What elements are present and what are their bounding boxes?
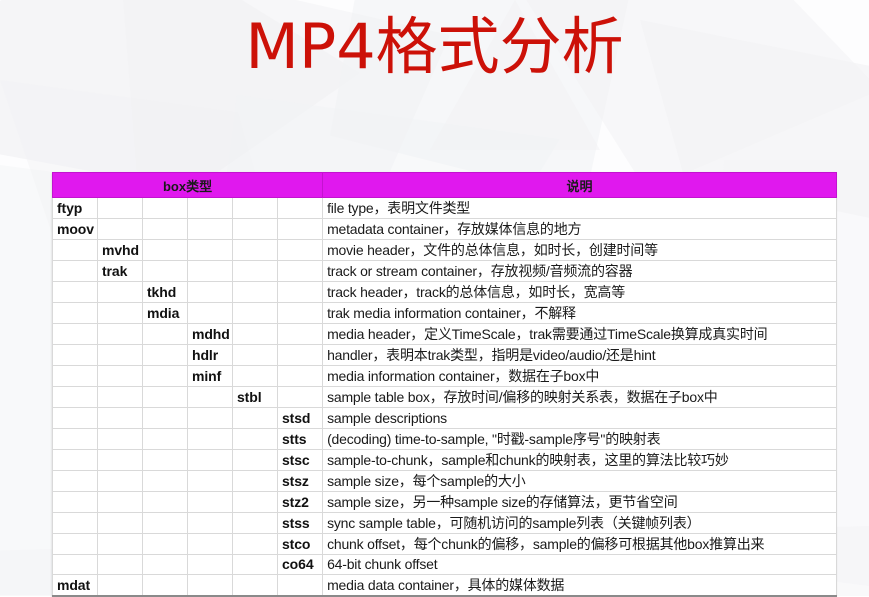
table-row: ftypfile type，表明文件类型: [53, 198, 837, 219]
indent-spacer-cell: [188, 282, 233, 303]
indent-spacer-cell: [233, 240, 278, 261]
indent-spacer-cell: [98, 303, 143, 324]
indent-spacer-cell: [143, 324, 188, 345]
column-header-box-type: box类型: [53, 173, 323, 198]
indent-spacer-cell: [143, 533, 188, 554]
indent-spacer-cell: [233, 282, 278, 303]
indent-spacer-cell: [98, 533, 143, 554]
box-name-cell: mdhd: [188, 324, 233, 345]
table-row: stsdsample descriptions: [53, 408, 837, 429]
box-description-cell: sample-to-chunk，sample和chunk的映射表，这里的算法比较…: [323, 449, 837, 470]
indent-spacer-cell: [278, 240, 323, 261]
indent-spacer-cell: [143, 387, 188, 408]
table-row: tkhdtrack header，track的总体信息，如时长，宽高等: [53, 282, 837, 303]
box-name-cell: minf: [188, 366, 233, 387]
indent-spacer-cell: [188, 512, 233, 533]
indent-spacer-cell: [188, 261, 233, 282]
indent-spacer-cell: [98, 554, 143, 575]
indent-spacer-cell: [53, 408, 98, 429]
indent-spacer-cell: [188, 219, 233, 240]
indent-spacer-cell: [98, 366, 143, 387]
indent-spacer-cell: [143, 491, 188, 512]
table-row: mvhdmovie header，文件的总体信息，如时长，创建时间等: [53, 240, 837, 261]
indent-spacer-cell: [233, 324, 278, 345]
indent-spacer-cell: [53, 366, 98, 387]
box-name-cell: stbl: [233, 387, 278, 408]
table-row: stscsample-to-chunk，sample和chunk的映射表，这里的…: [53, 449, 837, 470]
box-name-cell: stco: [278, 533, 323, 554]
indent-spacer-cell: [233, 345, 278, 366]
indent-spacer-cell: [98, 428, 143, 449]
indent-spacer-cell: [188, 240, 233, 261]
indent-spacer-cell: [143, 470, 188, 491]
indent-spacer-cell: [98, 470, 143, 491]
indent-spacer-cell: [143, 554, 188, 575]
box-name-cell: co64: [278, 554, 323, 575]
table-row: stsssync sample table，可随机访问的sample列表（关键帧…: [53, 512, 837, 533]
indent-spacer-cell: [233, 512, 278, 533]
indent-spacer-cell: [233, 575, 278, 597]
box-description-cell: media header，定义TimeScale，trak需要通过TimeSca…: [323, 324, 837, 345]
indent-spacer-cell: [233, 198, 278, 219]
indent-spacer-cell: [53, 240, 98, 261]
table-row: traktrack or stream container，存放视频/音频流的容…: [53, 261, 837, 282]
indent-spacer-cell: [188, 470, 233, 491]
indent-spacer-cell: [188, 387, 233, 408]
box-description-cell: sample size，每个sample的大小: [323, 470, 837, 491]
indent-spacer-cell: [53, 303, 98, 324]
indent-spacer-cell: [278, 366, 323, 387]
indent-spacer-cell: [188, 408, 233, 429]
box-description-cell: (decoding) time-to-sample, "时戳-sample序号"…: [323, 428, 837, 449]
indent-spacer-cell: [188, 554, 233, 575]
table-row: mdiatrak media information container，不解释: [53, 303, 837, 324]
mp4-box-table: box类型 说明 ftypfile type，表明文件类型moovmetadat…: [52, 172, 837, 597]
box-description-cell: media information container，数据在子box中: [323, 366, 837, 387]
indent-spacer-cell: [188, 491, 233, 512]
indent-spacer-cell: [143, 512, 188, 533]
indent-spacer-cell: [188, 303, 233, 324]
table-row: co6464-bit chunk offset: [53, 554, 837, 575]
indent-spacer-cell: [53, 470, 98, 491]
indent-spacer-cell: [53, 533, 98, 554]
indent-spacer-cell: [188, 449, 233, 470]
box-name-cell: stss: [278, 512, 323, 533]
box-name-cell: stts: [278, 428, 323, 449]
indent-spacer-cell: [278, 261, 323, 282]
indent-spacer-cell: [233, 554, 278, 575]
box-name-cell: mvhd: [98, 240, 143, 261]
box-description-cell: sample descriptions: [323, 408, 837, 429]
slide-title: MP4格式分析: [0, 6, 869, 88]
box-description-cell: movie header，文件的总体信息，如时长，创建时间等: [323, 240, 837, 261]
indent-spacer-cell: [233, 261, 278, 282]
indent-spacer-cell: [143, 449, 188, 470]
table-header-row: box类型 说明: [53, 173, 837, 198]
indent-spacer-cell: [53, 282, 98, 303]
indent-spacer-cell: [98, 408, 143, 429]
box-description-cell: media data container，具体的媒体数据: [323, 575, 837, 597]
indent-spacer-cell: [233, 470, 278, 491]
box-name-cell: stsd: [278, 408, 323, 429]
indent-spacer-cell: [278, 324, 323, 345]
table-head: box类型 说明: [53, 173, 837, 198]
table-row: stblsample table box，存放时间/偏移的映射关系表，数据在子b…: [53, 387, 837, 408]
indent-spacer-cell: [143, 219, 188, 240]
indent-spacer-cell: [233, 491, 278, 512]
table-row: minfmedia information container，数据在子box中: [53, 366, 837, 387]
indent-spacer-cell: [278, 219, 323, 240]
table-row: stcochunk offset，每个chunk的偏移，sample的偏移可根据…: [53, 533, 837, 554]
indent-spacer-cell: [143, 345, 188, 366]
indent-spacer-cell: [278, 575, 323, 597]
box-description-cell: file type，表明文件类型: [323, 198, 837, 219]
indent-spacer-cell: [188, 533, 233, 554]
table-row: moovmetadata container，存放媒体信息的地方: [53, 219, 837, 240]
indent-spacer-cell: [98, 198, 143, 219]
column-header-description: 说明: [323, 173, 837, 198]
box-description-cell: sample table box，存放时间/偏移的映射关系表，数据在子box中: [323, 387, 837, 408]
indent-spacer-cell: [233, 303, 278, 324]
indent-spacer-cell: [278, 303, 323, 324]
box-name-cell: ftyp: [53, 198, 98, 219]
indent-spacer-cell: [53, 491, 98, 512]
indent-spacer-cell: [188, 198, 233, 219]
indent-spacer-cell: [233, 408, 278, 429]
table-row: mdhdmedia header，定义TimeScale，trak需要通过Tim…: [53, 324, 837, 345]
box-description-cell: track header，track的总体信息，如时长，宽高等: [323, 282, 837, 303]
indent-spacer-cell: [98, 449, 143, 470]
box-name-cell: stsz: [278, 470, 323, 491]
indent-spacer-cell: [143, 198, 188, 219]
indent-spacer-cell: [53, 512, 98, 533]
indent-spacer-cell: [278, 198, 323, 219]
indent-spacer-cell: [143, 575, 188, 597]
indent-spacer-cell: [53, 345, 98, 366]
indent-spacer-cell: [143, 240, 188, 261]
box-description-cell: sync sample table，可随机访问的sample列表（关键帧列表）: [323, 512, 837, 533]
box-description-cell: chunk offset，每个chunk的偏移，sample的偏移可根据其他bo…: [323, 533, 837, 554]
indent-spacer-cell: [98, 512, 143, 533]
indent-spacer-cell: [98, 491, 143, 512]
indent-spacer-cell: [53, 554, 98, 575]
indent-spacer-cell: [53, 324, 98, 345]
indent-spacer-cell: [98, 575, 143, 597]
indent-spacer-cell: [98, 324, 143, 345]
indent-spacer-cell: [143, 261, 188, 282]
indent-spacer-cell: [233, 366, 278, 387]
indent-spacer-cell: [233, 428, 278, 449]
table-row: stszsample size，每个sample的大小: [53, 470, 837, 491]
indent-spacer-cell: [143, 428, 188, 449]
indent-spacer-cell: [233, 219, 278, 240]
indent-spacer-cell: [98, 282, 143, 303]
indent-spacer-cell: [233, 533, 278, 554]
box-name-cell: mdat: [53, 575, 98, 597]
box-name-cell: stsc: [278, 449, 323, 470]
table-row: hdlrhandler，表明本trak类型，指明是video/audio/还是h…: [53, 345, 837, 366]
indent-spacer-cell: [143, 366, 188, 387]
box-description-cell: trak media information container，不解释: [323, 303, 837, 324]
indent-spacer-cell: [278, 387, 323, 408]
indent-spacer-cell: [98, 219, 143, 240]
indent-spacer-cell: [278, 345, 323, 366]
box-name-cell: mdia: [143, 303, 188, 324]
box-name-cell: trak: [98, 261, 143, 282]
box-name-cell: moov: [53, 219, 98, 240]
table-row: mdatmedia data container，具体的媒体数据: [53, 575, 837, 597]
box-description-cell: sample size，另一种sample size的存储算法，更节省空间: [323, 491, 837, 512]
box-name-cell: stz2: [278, 491, 323, 512]
indent-spacer-cell: [278, 282, 323, 303]
indent-spacer-cell: [188, 428, 233, 449]
table-row: stts(decoding) time-to-sample, "时戳-sampl…: [53, 428, 837, 449]
indent-spacer-cell: [98, 345, 143, 366]
box-description-cell: 64-bit chunk offset: [323, 554, 837, 575]
mp4-box-table-container: box类型 说明 ftypfile type，表明文件类型moovmetadat…: [52, 172, 836, 597]
box-description-cell: metadata container，存放媒体信息的地方: [323, 219, 837, 240]
table-row: stz2sample size，另一种sample size的存储算法，更节省空…: [53, 491, 837, 512]
indent-spacer-cell: [53, 449, 98, 470]
indent-spacer-cell: [233, 449, 278, 470]
table-body: ftypfile type，表明文件类型moovmetadata contain…: [53, 198, 837, 597]
box-description-cell: handler，表明本trak类型，指明是video/audio/还是hint: [323, 345, 837, 366]
box-name-cell: hdlr: [188, 345, 233, 366]
indent-spacer-cell: [53, 428, 98, 449]
indent-spacer-cell: [98, 387, 143, 408]
indent-spacer-cell: [143, 408, 188, 429]
box-name-cell: tkhd: [143, 282, 188, 303]
indent-spacer-cell: [53, 387, 98, 408]
box-description-cell: track or stream container，存放视频/音频流的容器: [323, 261, 837, 282]
indent-spacer-cell: [53, 261, 98, 282]
indent-spacer-cell: [188, 575, 233, 597]
